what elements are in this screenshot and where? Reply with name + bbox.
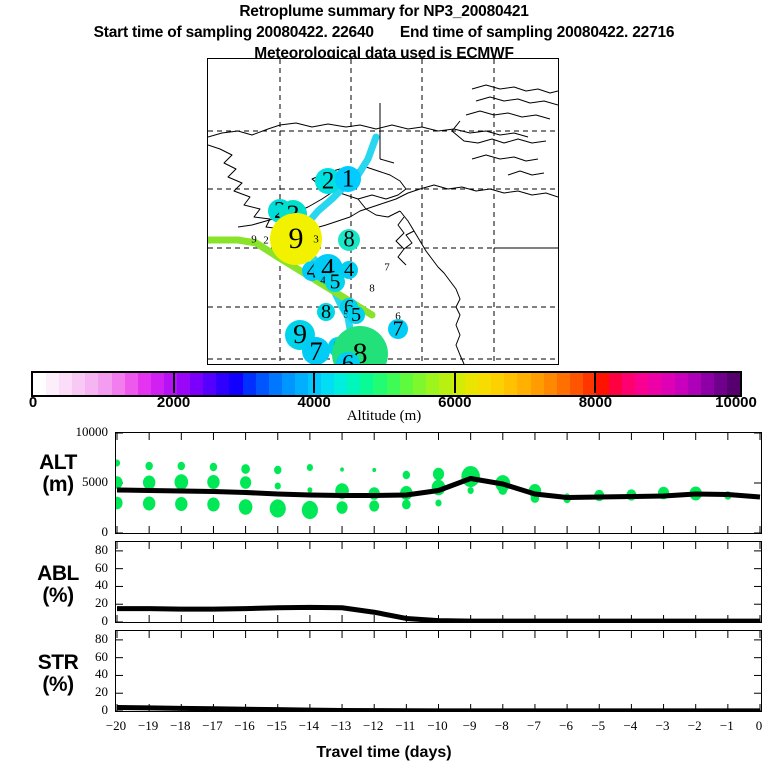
colorbar-divider <box>594 371 596 393</box>
alt-mass-blob <box>433 468 444 481</box>
alt-mass-blob <box>116 476 123 489</box>
alt-mass-blob <box>403 471 410 479</box>
colorbar-swatch <box>177 373 190 395</box>
colorbar-swatch <box>662 373 675 395</box>
abl-plot[interactable] <box>115 541 762 623</box>
sampling-times: Start time of sampling 20080422. 22640 E… <box>0 24 768 42</box>
x-tick-label: −12 <box>363 718 383 734</box>
y-tick-label: 40 <box>50 666 108 682</box>
x-tick-label: −15 <box>267 718 287 734</box>
colorbar-swatch <box>426 373 439 395</box>
map-marker-label: 6 <box>342 352 354 365</box>
colorbar-divider <box>313 371 315 393</box>
x-tick-label: −13 <box>331 718 351 734</box>
map-marker-label: 4 <box>344 260 354 280</box>
colorbar-swatch <box>373 373 386 395</box>
colorbar-swatch <box>675 373 688 395</box>
colorbar-axis-label: Altitude (m) <box>0 408 768 425</box>
colorbar-swatch <box>243 373 256 395</box>
alt-mass-blob <box>143 497 155 511</box>
alt-mass-blob <box>274 466 281 474</box>
x-tick-label: −6 <box>559 718 573 734</box>
alt-mass-blob <box>116 460 120 467</box>
alt-mass-blob <box>336 501 347 514</box>
y-tick-label: 40 <box>50 577 108 593</box>
x-tick-label: −2 <box>688 718 702 734</box>
colorbar-swatch <box>347 373 360 395</box>
x-axis-title: Travel time (days) <box>0 744 768 762</box>
colorbar-swatch <box>727 373 740 395</box>
y-tick-label: 60 <box>50 649 108 665</box>
alt-mass-blob <box>340 467 344 471</box>
alt-mass-blob <box>435 500 441 507</box>
x-tick-label: −8 <box>495 718 509 734</box>
alt-mass-blob <box>468 487 474 494</box>
colorbar-swatch <box>295 373 308 395</box>
x-tick-label: −1 <box>720 718 734 734</box>
map-marker-label: 8 <box>369 284 375 295</box>
alt-mass-blob <box>302 501 318 519</box>
colorbar-swatch <box>190 373 203 395</box>
alt-mass-blob <box>307 464 313 471</box>
alt-mass-blob <box>307 487 312 493</box>
alt-mass-blob <box>275 483 281 490</box>
y-tick-label: 0 <box>50 613 108 629</box>
y-tick-label: 60 <box>50 560 108 576</box>
str-graphics <box>116 631 761 711</box>
map-marker-label: 9 <box>251 235 257 246</box>
y-tick-label: 20 <box>50 595 108 611</box>
alt-graphics <box>116 433 761 533</box>
alt-mass-blob <box>178 462 185 470</box>
alt-mass-blob <box>241 464 250 474</box>
alt-mass-blob <box>175 497 187 511</box>
y-tick-label: 80 <box>50 631 108 647</box>
colorbar-swatch <box>400 373 413 395</box>
x-tick-label: −19 <box>138 718 158 734</box>
map-marker-label: 2 <box>263 236 269 247</box>
colorbar-swatch <box>33 373 46 395</box>
alt-mass-blob <box>240 476 251 489</box>
alt-mass-blob <box>402 500 411 510</box>
colorbar-swatch <box>46 373 59 395</box>
x-tick-label: −16 <box>234 718 254 734</box>
colorbar-swatch <box>112 373 125 395</box>
colorbar-swatch <box>517 373 530 395</box>
altitude-colorbar <box>31 371 742 397</box>
colorbar-swatch <box>216 373 229 395</box>
colorbar-swatch <box>504 373 517 395</box>
y-tick-label: 20 <box>50 684 108 700</box>
map-marker-label: 9 <box>289 224 304 254</box>
map-marker-label: 8 <box>321 302 331 322</box>
abl-graphics <box>116 542 761 622</box>
colorbar-swatch <box>465 373 478 395</box>
colorbar-swatch <box>256 373 269 395</box>
colorbar-swatch <box>138 373 151 395</box>
colorbar-swatch <box>622 373 635 395</box>
colorbar-swatch <box>360 373 373 395</box>
colorbar-swatch <box>609 373 622 395</box>
x-tick-label: −20 <box>106 718 126 734</box>
y-tick-label: 0 <box>50 524 108 540</box>
str-plot[interactable] <box>115 630 762 712</box>
colorbar-swatch <box>557 373 570 395</box>
trajectory-tracks <box>208 59 558 364</box>
y-tick-label: 80 <box>50 542 108 558</box>
colorbar-swatch <box>164 373 177 395</box>
colorbar-swatch <box>570 373 583 395</box>
colorbar-swatch <box>72 373 85 395</box>
colorbar-swatch <box>387 373 400 395</box>
retroplume-map[interactable]: 2123992384445478865567976786 <box>207 58 559 365</box>
x-tick-label: 0 <box>756 718 763 734</box>
y-tick-label: 5000 <box>50 474 108 490</box>
map-marker-label: 7 <box>384 263 390 274</box>
colorbar-swatch <box>334 373 347 395</box>
colorbar-swatch <box>635 373 648 395</box>
map-marker-label: 1 <box>342 166 355 191</box>
x-tick-label: −4 <box>623 718 637 734</box>
colorbar-swatch <box>701 373 714 395</box>
colorbar-swatch <box>688 373 701 395</box>
x-tick-label: −17 <box>202 718 222 734</box>
y-tick-label: 0 <box>50 702 108 718</box>
x-tick-label: −9 <box>463 718 477 734</box>
colorbar-swatch <box>714 373 727 395</box>
alt-mass-blob <box>116 497 123 510</box>
alt-mass-blob <box>210 463 217 471</box>
alt-mass-blob <box>207 498 219 512</box>
map-marker-label: 2 <box>322 168 335 193</box>
y-tick-label: 10000 <box>50 424 108 440</box>
colorbar-swatch <box>321 373 334 395</box>
colorbar-divider <box>454 371 456 393</box>
map-marker-label: 7 <box>393 318 404 340</box>
alt-mass-blob <box>369 500 379 511</box>
alt-mass-blob <box>143 476 155 490</box>
colorbar-swatch <box>151 373 164 395</box>
x-tick-label: −11 <box>395 718 415 734</box>
x-tick-label: −14 <box>299 718 319 734</box>
alt-mass-blob <box>270 499 286 517</box>
colorbar-swatch <box>544 373 557 395</box>
colorbar-swatch <box>203 373 216 395</box>
colorbar-swatch <box>491 373 504 395</box>
end-time-label: End time of sampling 20080422. 22716 <box>400 24 675 42</box>
alt-mass-blob <box>207 475 219 489</box>
alt-mass-blob <box>145 462 152 470</box>
map-marker-label: 5 <box>351 305 361 325</box>
colorbar-swatch <box>413 373 426 395</box>
map-marker-label: 3 <box>313 235 319 246</box>
colorbar-swatch <box>282 373 295 395</box>
x-tick-label: −7 <box>527 718 541 734</box>
colorbar-swatch <box>98 373 111 395</box>
x-tick-label: −3 <box>656 718 670 734</box>
alt-plot[interactable] <box>115 432 762 534</box>
alt-mass-blob <box>239 499 253 514</box>
colorbar-divider <box>173 371 175 393</box>
map-marker-label: 5 <box>330 271 341 293</box>
colorbar-swatch <box>439 373 452 395</box>
map-marker-label: 7 <box>309 338 322 365</box>
x-tick-label: −10 <box>427 718 447 734</box>
x-tick-label: −18 <box>170 718 190 734</box>
alt-mass-blob <box>174 474 188 489</box>
start-time-label: Start time of sampling 20080422. 22640 <box>94 24 374 42</box>
colorbar-swatch <box>269 373 282 395</box>
colorbar-swatch <box>531 373 544 395</box>
map-marker-label: 8 <box>343 229 354 252</box>
colorbar-swatch <box>125 373 138 395</box>
colorbar-swatch <box>596 373 609 395</box>
colorbar-swatch <box>478 373 491 395</box>
page-title: Retroplume summary for NP3_20080421 <box>0 3 768 21</box>
colorbar-swatch <box>229 373 242 395</box>
colorbar-swatch <box>648 373 661 395</box>
colorbar-swatch <box>59 373 72 395</box>
x-tick-label: −5 <box>591 718 605 734</box>
colorbar-swatch <box>85 373 98 395</box>
alt-mass-blob <box>372 468 376 472</box>
